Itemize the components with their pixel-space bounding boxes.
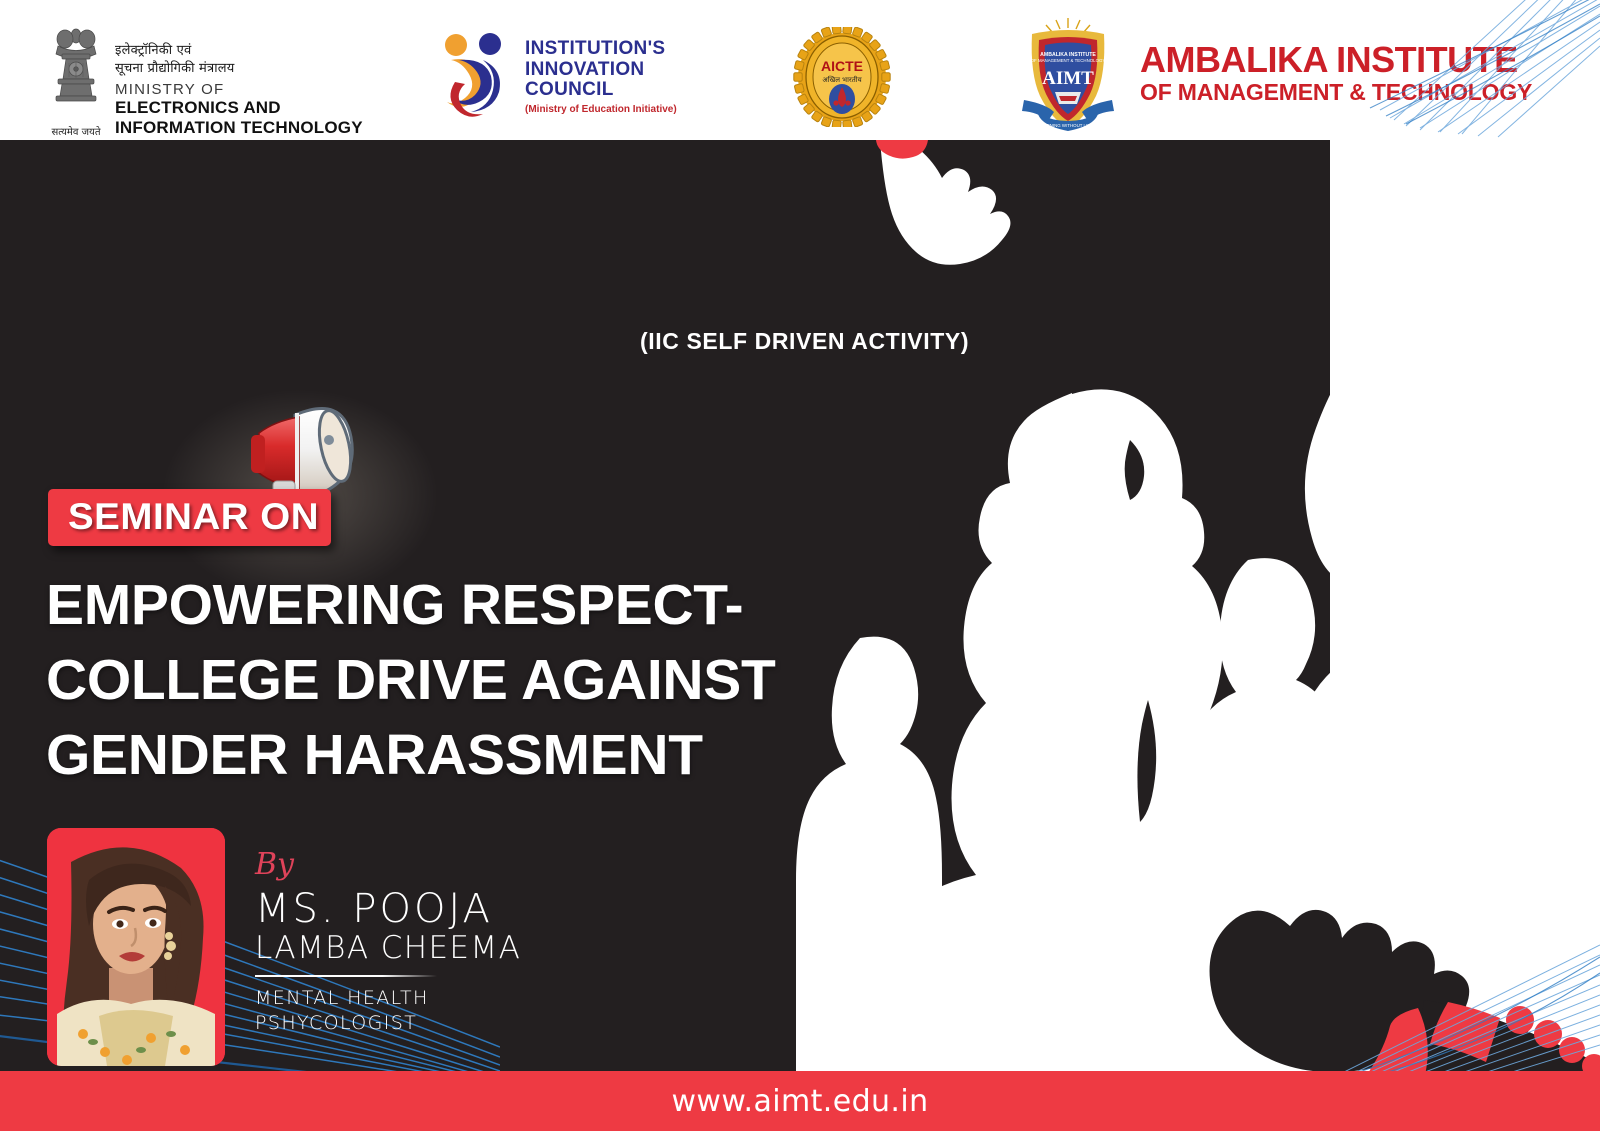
iic-line-3: COUNCIL	[525, 80, 677, 101]
poster-footer: www.aimt.edu.in	[0, 1071, 1600, 1131]
speaker-name-line-1: MS. POOJA	[255, 888, 521, 930]
iic-logo: INSTITUTION'S INNOVATION COUNCIL (Minist…	[437, 30, 677, 125]
meity-hindi-line-1: इलेक्ट्रॉनिकी एवं	[115, 42, 363, 60]
aicte-gear-seal-icon: AICTE अखिल भारतीय	[787, 27, 897, 127]
meity-line-2: ELECTRONICS AND	[115, 98, 363, 118]
ministry-electronics-it-logo: सत्यमेव जयते इलेक्ट्रॉनिकी एवं सूचना प्र…	[45, 22, 363, 138]
title-line-3: GENDER HARASSMENT	[46, 718, 786, 793]
avatar	[47, 828, 225, 1066]
iic-subtitle: (Ministry of Education Initiative)	[525, 105, 677, 116]
speaker-role: MENTAL HEALTH PSHYCOLOGIST	[255, 986, 521, 1036]
svg-text:LEARNING WITHOUT LIMITS: LEARNING WITHOUT LIMITS	[1038, 123, 1098, 128]
speaker-by-label: By	[255, 850, 521, 880]
website-url[interactable]: www.aimt.edu.in	[671, 1084, 928, 1119]
poster-body: (IIC SELF DRIVEN ACTIVITY) SEMINAR ON EM…	[0, 140, 1600, 1071]
meity-hindi-line-2: सूचना प्रौद्योगिकी मंत्रालय	[115, 60, 363, 78]
speaker-block: By MS. POOJA LAMBA CHEEMA MENTAL HEALTH …	[47, 828, 521, 1066]
title-line-1: EMPOWERING RESPECT-	[46, 568, 786, 643]
aimt-logo: AMBALIKA INSTITUTE OF MANAGEMENT & TECHN…	[1008, 14, 1532, 132]
speaker-divider	[255, 975, 437, 977]
poster-header: सत्यमेव जयते इलेक्ट्रॉनिकी एवं सूचना प्र…	[0, 0, 1600, 140]
iic-people-logo-icon	[437, 30, 515, 125]
page-title: EMPOWERING RESPECT- COLLEGE DRIVE AGAINS…	[46, 568, 786, 794]
svg-text:OF MANAGEMENT & TECHNOLOGY: OF MANAGEMENT & TECHNOLOGY	[1031, 58, 1106, 63]
aicte-logo: AICTE अखिल भारतीय	[787, 27, 897, 127]
seminar-on-badge-label: SEMINAR ON	[68, 498, 319, 535]
speaker-role-line-2: PSHYCOLOGIST	[255, 1011, 521, 1036]
decorative-fan-lines-bottom	[1300, 937, 1600, 1071]
aimt-crest-icon: AMBALIKA INSTITUTE OF MANAGEMENT & TECHN…	[1008, 14, 1128, 132]
svg-text:अखिल भारतीय: अखिल भारतीय	[822, 75, 862, 84]
activity-tag: (IIC SELF DRIVEN ACTIVITY)	[640, 328, 969, 355]
iic-line-1: INSTITUTION'S	[525, 39, 677, 60]
meity-line-3: INFORMATION TECHNOLOGY	[115, 118, 363, 138]
speaker-role-line-1: MENTAL HEALTH	[255, 986, 521, 1011]
meity-motto: सत्यमेव जयते	[51, 124, 100, 138]
speaker-name-line-2: LAMBA CHEEMA	[255, 931, 521, 965]
title-line-2: COLLEGE DRIVE AGAINST	[46, 643, 786, 718]
aimt-line-1: AMBALIKA INSTITUTE	[1140, 42, 1532, 78]
aimt-line-2: OF MANAGEMENT & TECHNOLOGY	[1140, 81, 1532, 104]
seminar-on-badge: SEMINAR ON	[48, 489, 331, 546]
iic-line-2: INNOVATION	[525, 60, 677, 81]
svg-text:AIMT: AIMT	[1042, 68, 1094, 89]
india-state-emblem-icon	[45, 22, 107, 122]
meity-line-1: MINISTRY OF	[115, 81, 363, 98]
seminar-poster: सत्यमेव जयते इलेक्ट्रॉनिकी एवं सूचना प्र…	[0, 0, 1600, 1131]
svg-text:AICTE: AICTE	[821, 58, 863, 74]
